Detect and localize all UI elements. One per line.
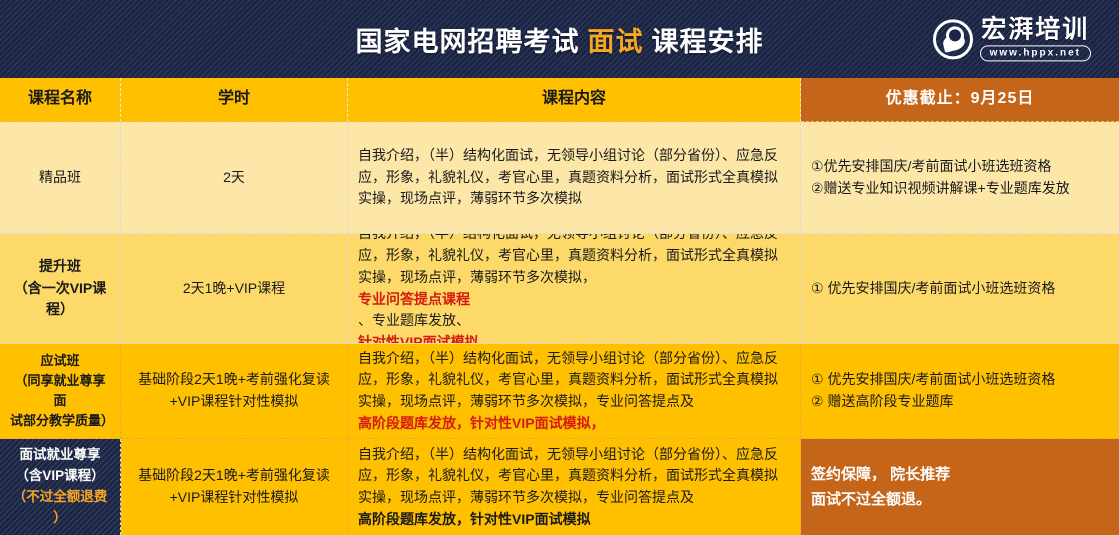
course-refund-note-line: （不过全额退费 — [13, 487, 108, 508]
course-name-line: 提升班 — [39, 256, 81, 278]
column-header-hours: 学时 — [121, 78, 348, 122]
page-title-pre: 国家电网招聘考试 — [356, 27, 580, 57]
course-hours-line: 2天1晚+VIP课程 — [183, 278, 285, 300]
course-name-cell: 应试班 （同享就业尊享面 试部分教学质量） — [0, 344, 121, 439]
logo-text-block: 宏湃培训 www.hppx.net — [980, 16, 1091, 61]
course-content-text: 自我介绍，（半）结构化面试，无领导小组讨论（部分省份）、应急反应，形象，礼貌礼仪… — [358, 444, 790, 509]
course-content-cell: 自我介绍，（半）结构化面试，无领导小组讨论（部分省份）、应急反应，形象，礼貌礼仪… — [348, 234, 801, 344]
course-content-text: 自我介绍，（半）结构化面试，无领导小组讨论（部分省份）、应急反应，形象，礼貌礼仪… — [358, 145, 790, 210]
course-schedule-poster: 国家电网招聘考试面试课程安排 宏湃培训 www.hppx.net 课程名称 学时… — [0, 0, 1119, 535]
guarantee-line: 签约保障， 院长推荐 — [811, 462, 950, 488]
course-table: 课程名称 学时 课程内容 优惠截止：9月25日 精品班 2天 自我介绍，（半）结… — [0, 78, 1119, 535]
course-name-line: （含VIP课程） — [15, 466, 104, 487]
brand-logo: 宏湃培训 www.hppx.net — [933, 16, 1091, 61]
course-benefit-cell: ① 优先安排国庆/考前面试小班选班资格 — [801, 234, 1119, 344]
logo-name: 宏湃培训 — [981, 16, 1089, 42]
course-hours-line: 基础阶段2天1晚+考前强化复读 — [138, 465, 330, 487]
course-hours-cell: 2天 — [121, 122, 348, 234]
course-benefit-cell: ① 优先安排国庆/考前面试小班选班资格 ② 赠送高阶段专业题库 — [801, 344, 1119, 439]
course-benefit-cell: ①优先安排国庆/考前面试小班选班资格 ②赠送专业知识视频讲解课+专业题库发放 — [801, 122, 1119, 234]
poster-header: 国家电网招聘考试面试课程安排 宏湃培训 www.hppx.net — [0, 0, 1119, 78]
course-name-line: （同享就业尊享面 — [10, 371, 110, 411]
course-name-line: 应试班 — [40, 351, 79, 371]
table-row: 精品班 2天 自我介绍，（半）结构化面试，无领导小组讨论（部分省份）、应急反应，… — [0, 122, 1119, 234]
course-hours-line: 基础阶段2天1晚+考前强化复读 — [138, 369, 330, 391]
column-header-course-name: 课程名称 — [0, 78, 121, 122]
course-refund-note-line: ） — [53, 508, 67, 529]
table-header-row: 课程名称 学时 课程内容 优惠截止：9月25日 — [0, 78, 1119, 122]
course-content-emphasis: 高阶段题库发放，针对性VIP面试模拟 — [358, 509, 591, 531]
course-name-line: 试部分教学质量） — [10, 411, 110, 431]
benefit-line: ① 优先安排国庆/考前面试小班选班资格 — [811, 369, 1055, 391]
guarantee-line: 面试不过全额退。 — [811, 487, 931, 513]
course-name-cell: 提升班 （含一次VIP课 程） — [0, 234, 121, 344]
course-content-text: 自我介绍，（半）结构化面试，无领导小组讨论（部分省份）、应急反应，形象，礼貌礼仪… — [358, 234, 790, 289]
course-content-highlight: 专业问答提点课程 — [358, 289, 470, 311]
course-name-cell: 精品班 — [0, 122, 121, 234]
course-content-text-mid: 、专业题库发放、 — [358, 310, 470, 332]
column-header-promo-deadline: 优惠截止：9月25日 — [801, 78, 1119, 122]
course-content-text: 自我介绍，（半）结构化面试，无领导小组讨论（部分省份）、应急反应，形象，礼貌礼仪… — [358, 348, 790, 413]
course-name-line: 精品班 — [39, 167, 81, 189]
course-name-cell-featured: 面试就业尊享 （含VIP课程） （不过全额退费 ） — [0, 439, 121, 535]
benefit-line: ②赠送专业知识视频讲解课+专业题库发放 — [811, 178, 1070, 200]
benefit-line: ①优先安排国庆/考前面试小班选班资格 — [811, 156, 1051, 178]
course-content-cell: 自我介绍，（半）结构化面试，无领导小组讨论（部分省份）、应急反应，形象，礼貌礼仪… — [348, 122, 801, 234]
table-row: 面试就业尊享 （含VIP课程） （不过全额退费 ） 基础阶段2天1晚+考前强化复… — [0, 439, 1119, 535]
course-name-line: 程） — [46, 299, 74, 321]
course-hours-line: +VIP课程针对性模拟 — [170, 487, 299, 509]
table-row: 应试班 （同享就业尊享面 试部分教学质量） 基础阶段2天1晚+考前强化复读 +V… — [0, 344, 1119, 439]
logo-website-url: www.hppx.net — [980, 46, 1091, 62]
course-content-highlight: 针对性VIP面试模拟 — [358, 332, 479, 344]
page-title: 国家电网招聘考试面试课程安排 — [356, 20, 764, 59]
benefit-line: ② 赠送高阶段专业题库 — [811, 391, 953, 413]
page-title-accent: 面试 — [588, 27, 644, 57]
column-header-content: 课程内容 — [348, 78, 801, 122]
course-content-cell: 自我介绍，（半）结构化面试，无领导小组讨论（部分省份）、应急反应，形象，礼貌礼仪… — [348, 439, 801, 535]
course-hours-line: 2天 — [223, 167, 245, 189]
table-row: 提升班 （含一次VIP课 程） 2天1晚+VIP课程 自我介绍，（半）结构化面试… — [0, 234, 1119, 344]
logo-swirl-icon — [933, 19, 973, 59]
course-content-highlight: 高阶段题库发放，针对性VIP面试模拟， — [358, 413, 605, 435]
course-guarantee-cell: 签约保障， 院长推荐 面试不过全额退。 — [801, 439, 1119, 535]
course-hours-line: +VIP课程针对性模拟 — [170, 391, 299, 413]
course-hours-cell: 基础阶段2天1晚+考前强化复读 +VIP课程针对性模拟 — [121, 344, 348, 439]
course-name-line: （含一次VIP课 — [14, 278, 107, 300]
page-title-post: 课程安排 — [652, 27, 764, 57]
course-content-cell: 自我介绍，（半）结构化面试，无领导小组讨论（部分省份）、应急反应，形象，礼貌礼仪… — [348, 344, 801, 439]
benefit-line: ① 优先安排国庆/考前面试小班选班资格 — [811, 278, 1055, 300]
course-hours-cell: 2天1晚+VIP课程 — [121, 234, 348, 344]
course-hours-cell: 基础阶段2天1晚+考前强化复读 +VIP课程针对性模拟 — [121, 439, 348, 535]
course-name-line: 面试就业尊享 — [20, 445, 101, 466]
